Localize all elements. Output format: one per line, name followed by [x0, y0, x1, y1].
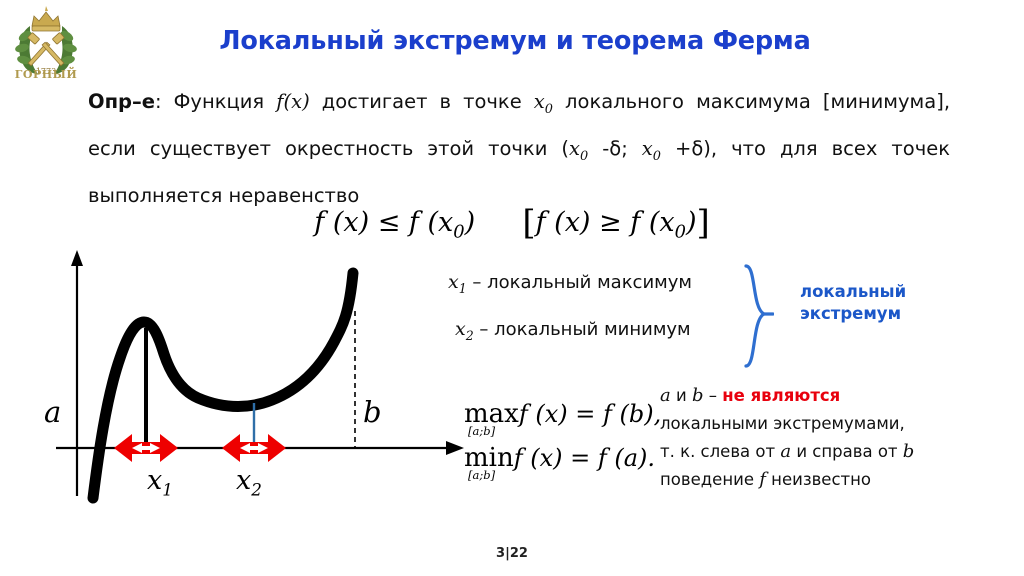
note-line-3: т. к. слева от a и справа от b	[660, 438, 1010, 466]
variable-x0-b: x0	[569, 137, 588, 160]
extremum-line-1: локальный	[800, 281, 960, 303]
definition-paragraph: Опр–е: Функция f(x) достигает в точке x0…	[88, 82, 950, 215]
note-var-a2: a	[780, 441, 791, 462]
main-inequality-formula: f (x) ≤ f (x0) [f (x) ≥ f (x0)]	[0, 203, 1024, 243]
x-axis-arrowhead	[446, 441, 464, 455]
page-number: 3|22	[0, 546, 1024, 561]
formula-left: f (x) ≤ f (x0)	[314, 207, 475, 238]
extremum-line-2: экстремум	[800, 303, 960, 325]
delta-minus: -δ;	[588, 137, 642, 160]
maxmin-formulas: max[a;b]f (x) = f (b), min[a;b]f (x) = f…	[464, 392, 661, 480]
y-axis-arrowhead	[71, 250, 83, 266]
note-and: и	[671, 386, 692, 405]
note-var-a: a	[660, 385, 671, 406]
formula-right: f (x) ≥ f (x0)	[536, 207, 697, 238]
axis-label-a: a	[44, 395, 61, 429]
bracket-open: [	[522, 203, 535, 243]
local-extremum-label: локальный экстремум	[800, 281, 960, 325]
annotation-var-x2: x2	[455, 318, 474, 340]
annotation-local-minimum: x2 – локальный минимум	[455, 318, 691, 343]
variable-x0-a: x0	[534, 90, 553, 113]
note-line4-b: неизвестно	[766, 470, 871, 489]
annotation-var-x1: x1	[448, 271, 467, 293]
max-body: f (x) = f (b),	[519, 400, 661, 428]
note-line4-a: поведение	[660, 470, 759, 489]
note-dash: –	[703, 386, 722, 405]
axis-label-x1: x1	[147, 465, 173, 499]
note-line-1: a и b – не являются	[660, 382, 1010, 410]
page-title: Локальный экстремум и теорема Ферма	[100, 26, 930, 56]
note-line3-b: и справа от	[791, 442, 903, 461]
min-operator: min[a;b]	[464, 436, 514, 480]
delta-plus: +δ	[661, 137, 703, 160]
annotation-local-maximum: x1 – локальный максимум	[448, 271, 692, 296]
note-var-b2: b	[903, 441, 915, 462]
bracket-close: ]	[696, 203, 709, 243]
axis-label-x2: x2	[236, 465, 262, 499]
annotation-text-max: – локальный максимум	[467, 272, 692, 293]
axis-label-b: b	[363, 395, 382, 429]
note-line3-a: т. к. слева от	[660, 442, 780, 461]
note-var-b: b	[692, 385, 704, 406]
variable-x0-c: x0	[642, 137, 661, 160]
function-fx: f(x)	[276, 90, 309, 113]
function-curve	[93, 273, 353, 498]
max-formula: max[a;b]f (x) = f (b),	[464, 392, 661, 436]
note-var-f: f	[759, 469, 766, 490]
min-formula: min[a;b]f (x) = f (a).	[464, 436, 661, 480]
definition-text-2: достигает в точке	[310, 90, 534, 113]
min-subscript: [a;b]	[468, 453, 495, 497]
max-operator: max[a;b]	[464, 392, 519, 436]
logo-caption: ГОРНЫЙ	[8, 68, 84, 81]
brace-icon	[740, 262, 774, 370]
note-line-2: локальными экстремумами,	[660, 410, 1010, 438]
note-line-4: поведение f неизвестно	[660, 466, 1010, 494]
explanation-note: a и b – не являются локальными экстремум…	[660, 382, 1010, 494]
annotation-text-min: – локальный минимум	[474, 319, 691, 340]
note-red-text: не являются	[722, 386, 840, 405]
definition-text-1: : Функция	[155, 90, 276, 113]
min-body: f (x) = f (a).	[514, 444, 655, 472]
definition-lead: Опр–е	[88, 90, 155, 113]
